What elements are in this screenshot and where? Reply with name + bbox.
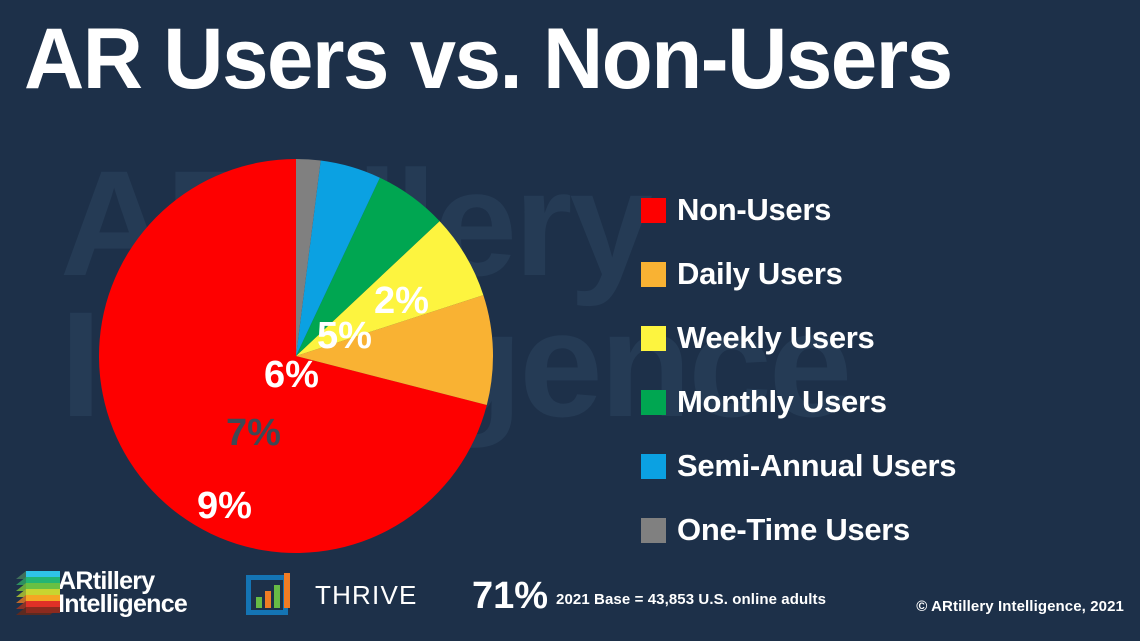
thrive-bar-chart-icon (243, 571, 301, 619)
legend-item-label: Non-Users (677, 192, 831, 228)
thrive-analytics-logo[interactable]: THRIVE (243, 571, 418, 619)
pie-value-label: 9% (197, 487, 252, 525)
artillery-wordmark-line2: Intelligence (58, 593, 187, 616)
legend-color-swatch (641, 262, 666, 287)
legend-item-monthly-users[interactable]: Monthly Users (641, 370, 956, 434)
pie-value-label: 2% (374, 282, 429, 320)
legend-item-label: Monthly Users (677, 384, 887, 420)
artillery-layers-icon (14, 569, 64, 617)
pie-chart: 2%5%6%7%9%71% (96, 156, 496, 556)
legend-color-swatch (641, 326, 666, 351)
pie-value-label: 7% (226, 414, 281, 452)
legend-color-swatch (641, 518, 666, 543)
pie-value-label: 5% (317, 317, 372, 355)
legend-item-semi-annual-users[interactable]: Semi-Annual Users (641, 434, 956, 498)
thrive-word: THRIVE (315, 580, 418, 610)
legend-item-label: Semi-Annual Users (677, 448, 956, 484)
legend-item-label: Weekly Users (677, 320, 874, 356)
legend-item-one-time-users[interactable]: One-Time Users (641, 498, 956, 562)
copyright-notice: © ARtillery Intelligence, 2021 (916, 598, 1124, 615)
artillery-intelligence-logo[interactable]: ARtillery Intelligence (14, 569, 187, 617)
legend-item-label: Daily Users (677, 256, 843, 292)
footer: ARtillery Intelligence THRIVE (0, 561, 1140, 641)
thrive-wordmark: THRIVE (315, 580, 418, 611)
page-title: AR Users vs. Non-Users (24, 10, 952, 109)
legend-color-swatch (641, 198, 666, 223)
pie-value-label: 6% (264, 356, 319, 394)
base-note: 2021 Base = 43,853 U.S. online adults (556, 591, 826, 608)
legend-color-swatch (641, 390, 666, 415)
chart-legend: Non-UsersDaily UsersWeekly UsersMonthly … (641, 178, 956, 562)
legend-item-daily-users[interactable]: Daily Users (641, 242, 956, 306)
artillery-wordmark: ARtillery Intelligence (58, 570, 187, 616)
legend-item-label: One-Time Users (677, 512, 910, 548)
slide-canvas: ARtillery Intelligence AR Users vs. Non-… (0, 0, 1140, 641)
legend-color-swatch (641, 454, 666, 479)
legend-item-weekly-users[interactable]: Weekly Users (641, 306, 956, 370)
legend-item-non-users[interactable]: Non-Users (641, 178, 956, 242)
